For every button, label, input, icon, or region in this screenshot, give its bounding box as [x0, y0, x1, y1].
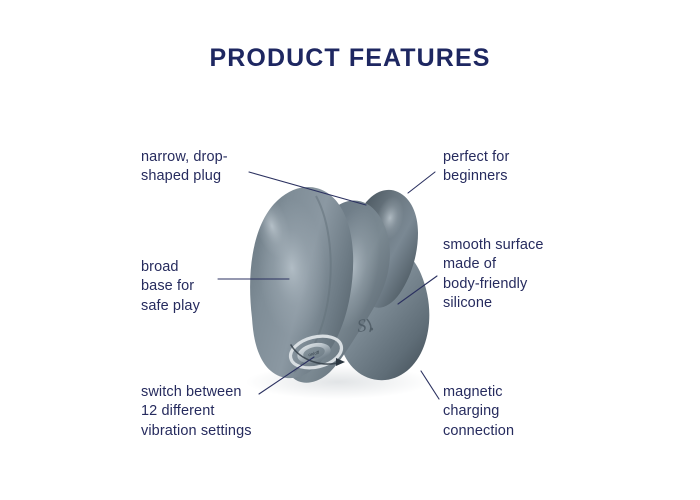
leader-smooth-surface-silicone — [398, 276, 437, 304]
leader-magnetic-charging-connection — [421, 371, 439, 399]
leader-switch-vibration-settings — [259, 357, 314, 394]
leader-lines — [0, 0, 700, 500]
leader-perfect-for-beginners — [408, 172, 435, 193]
leader-narrow-drop-shaped-plug — [249, 172, 366, 205]
diagram-canvas: PRODUCT FEATURES — [0, 0, 700, 500]
